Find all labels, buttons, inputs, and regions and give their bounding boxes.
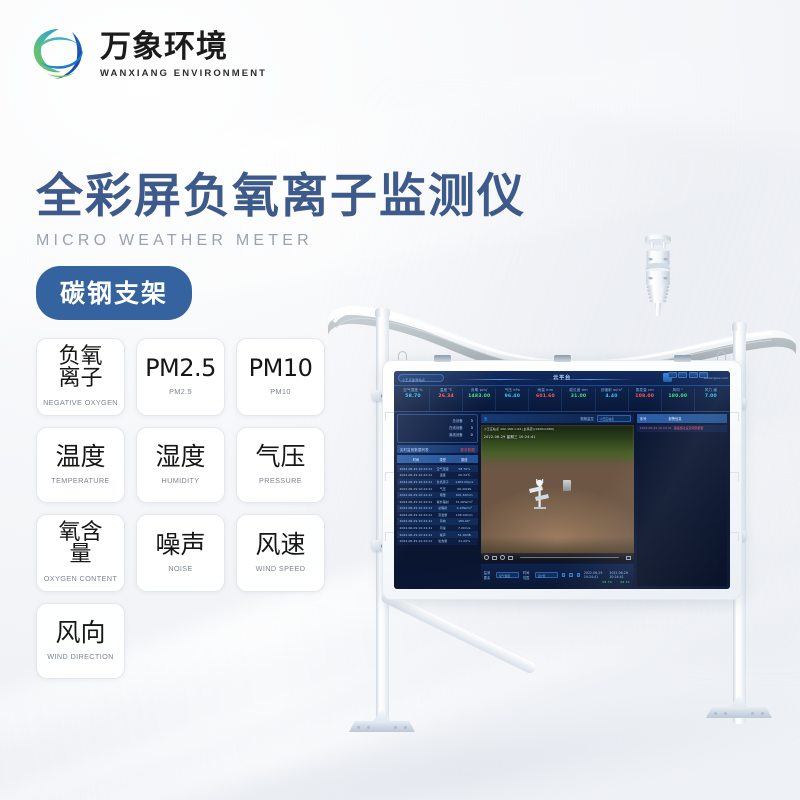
record-icon[interactable]	[500, 555, 505, 560]
chart-legend-swatch[interactable]	[569, 573, 572, 577]
base-bolt-icon	[367, 726, 370, 729]
cell-value: 96.40kPa	[453, 487, 476, 491]
feature-card: 负氧离子NEGATIVE OXYGEN	[36, 338, 125, 416]
table-row[interactable]: 2022-06-29 10:24:41温度26.34℃	[397, 472, 478, 479]
toolbar-button[interactable]	[668, 372, 677, 378]
cell-value: 180.00°	[453, 519, 476, 523]
data-table-title: 实时监测数据列表	[400, 447, 429, 452]
cell-time: 2022-06-29 10:24:41	[399, 467, 433, 471]
screen-toolbar[interactable]	[668, 372, 709, 378]
data-table-more-link[interactable]: 更多数据	[460, 447, 474, 452]
chart-legend-swatch[interactable]	[577, 573, 580, 577]
metric-cell: 气压 kPa96.40	[496, 388, 529, 411]
metric-value: 7.00	[695, 393, 727, 402]
table-row[interactable]: 2022-06-29 10:24:41气压96.40kPa	[397, 485, 478, 492]
cell-type: 风向	[433, 519, 453, 523]
bezel-corner-mark	[385, 472, 394, 481]
screen-header: 云平台 小王庄监测站点 admin@wx.com	[394, 371, 730, 386]
base-bolt-icon	[357, 726, 360, 729]
cell-time: 2022-06-29 10:24:41	[399, 526, 433, 530]
cell-value: 51.00dB	[453, 533, 476, 537]
post-cap-right	[732, 322, 747, 331]
summary-label: 总设备	[452, 418, 462, 425]
bezel-hook-icon	[717, 351, 726, 360]
summary-value: 3	[471, 425, 473, 432]
alarm-column-header: 序号	[640, 416, 669, 421]
chart-legend-swatch[interactable]	[562, 573, 565, 577]
feature-card: 温度TEMPERATURE	[36, 427, 125, 503]
metric-value: 4.40	[596, 393, 628, 402]
cell-type: 雨量	[433, 493, 453, 497]
table-row[interactable]: 2022-06-29 10:24:41雨量601.60mm	[397, 492, 478, 499]
metric-value: 58.70	[397, 393, 429, 402]
metric-value: 96.40	[496, 393, 528, 402]
base-bolt-icon	[761, 712, 764, 715]
cell-type: 紫外辐射	[433, 500, 453, 504]
cell-type: 蒸发量	[433, 513, 453, 517]
cell-time: 2022-06-29 10:24:41	[399, 519, 433, 523]
base-bolt-icon	[751, 712, 754, 715]
led-display-screen[interactable]: 云平台 小王庄监测站点 admin@wx.com 空气湿度 %58.70温度 ℃…	[394, 371, 730, 589]
base-bolt-icon	[714, 712, 717, 715]
cell-value: 58.70%	[453, 467, 476, 471]
column-header: 类型	[433, 457, 453, 462]
feature-card: 风速WIND SPEED	[236, 514, 325, 592]
metric-cell: 蒸发量 cm108.00	[629, 388, 662, 411]
table-row[interactable]: 2022-06-29 10:24:41风向180.00°	[397, 518, 478, 525]
table-row[interactable]: 2022-06-29 10:24:41空气湿度58.70%	[397, 465, 478, 472]
feature-card: 风向WIND DIRECTION	[36, 603, 125, 679]
table-row[interactable]: 2022-06-29 10:24:41负氧离子1483.00pcs	[397, 479, 478, 486]
dashboard-body: 总设备3在线设备3离线设备0 实时监测数据列表 更多数据 时间 类型 数值 20…	[394, 412, 730, 589]
cell-type: 噪声	[433, 533, 453, 537]
metric-cell: 温度 ℃26.34	[430, 388, 463, 411]
cell-time: 2022-06-29 10:24:41	[399, 539, 433, 543]
cell-time: 2022-06-29 10:24:41	[399, 506, 433, 510]
device-summary-box: 总设备3在线设备3离线设备0	[397, 414, 478, 443]
camera-station-select[interactable]: 小王庄站点	[597, 415, 631, 422]
table-row[interactable]: 2022-06-29 10:24:41总辐射4.40W/m²	[397, 505, 478, 512]
camera-user-icon: 👤	[484, 417, 488, 421]
feature-card: 氧含量OXYGEN CONTENT	[36, 514, 125, 592]
metric-value: 180.00	[662, 393, 694, 402]
feature-card-subtitle: PM10	[270, 387, 290, 396]
feature-card-subtitle: WIND SPEED	[256, 564, 306, 573]
feature-card-title: PM10	[249, 356, 313, 380]
cell-type: 负氧离子	[433, 480, 453, 484]
feature-card: PM10PM10	[236, 338, 325, 416]
cell-time: 2022-06-29 10:24:41	[399, 513, 433, 517]
alarm-cell-time: 2022-06-29 10:24:41	[640, 426, 674, 430]
metric-cell: 总辐射 w/m²4.40	[596, 388, 629, 411]
filter-label-2: 时间范围	[523, 570, 531, 580]
feature-card-title: 负氧离子	[58, 346, 102, 391]
feature-card-subtitle: NEGATIVE OXYGEN	[43, 398, 118, 407]
metric-cell: 雨量 mm601.60	[529, 388, 562, 411]
fullscreen-icon[interactable]	[626, 556, 631, 560]
cell-time: 2022-06-29 10:24:41	[399, 533, 433, 537]
column-header: 时间	[399, 457, 433, 462]
feature-card: 气压PRESSURE	[236, 427, 325, 503]
bezel-corner-mark	[730, 532, 739, 541]
feature-card: 湿度HUMIDITY	[136, 427, 225, 503]
alarm-table-body: 2022-06-29 10:24:41温度超过设定阈值报警	[637, 425, 727, 433]
station-select-label: 小王庄监测站点	[399, 375, 443, 382]
product-illustration: 云平台 小王庄监测站点 admin@wx.com 空气湿度 %58.70温度 ℃…	[320, 230, 800, 770]
metric-cell: 空气湿度 %58.70	[397, 388, 430, 411]
alarm-column-header: 报警信息	[668, 416, 724, 421]
summary-value: 0	[471, 432, 473, 439]
header-deco-line	[456, 379, 544, 380]
cell-time: 2022-06-29 10:24:41	[399, 473, 433, 477]
metric-value: 1483.00	[463, 393, 495, 402]
bezel-corner-mark	[730, 412, 739, 421]
cell-time: 2022-06-29 10:24:41	[399, 487, 433, 491]
bezel-corner-mark	[730, 472, 739, 481]
summary-label: 在线设备	[449, 425, 463, 432]
feature-card-title: 氧含量	[58, 522, 102, 567]
cell-value: 601.60mm	[453, 493, 476, 497]
camera-overlay-info: 小王庄站点 192.168.1.64 (主码流)(1920x1080)	[484, 427, 554, 431]
cell-value: 4.40W/m²	[453, 506, 476, 510]
camera-toolbar: 👤 视频监控 小王庄站点	[481, 414, 634, 423]
brand-name-cn: 万象环境	[100, 32, 267, 63]
metric-cell: 负氧 pcs/1483.00	[463, 388, 496, 411]
support-brace	[380, 591, 538, 675]
cell-time: 2022-06-29 10:24:41	[399, 500, 433, 504]
feature-card-subtitle: OXYGEN CONTENT	[44, 574, 117, 583]
table-row[interactable]: 2022-06-29 10:24:41风速7.00m/s	[397, 525, 478, 532]
metric-value: 108.00	[629, 393, 661, 402]
toolbar-button[interactable]	[689, 372, 698, 378]
metric-value: 601.60	[529, 393, 561, 402]
summary-value: 3	[471, 418, 473, 425]
base-bolt-icon	[404, 726, 407, 729]
cell-type: 总辐射	[433, 506, 453, 510]
camera-overlay-time: 2022-06-29 星期三 10:24:41	[484, 434, 536, 439]
cell-type: 氧含量	[433, 539, 453, 543]
footer-value-1: 58.70	[602, 580, 612, 584]
chart-filter-bar: 监测要素 空气湿度 时间范围 近7天 2022-06-29 10:24:41 2…	[481, 564, 634, 586]
bezel-mount-tab	[554, 355, 571, 362]
base-flange-plate-right	[706, 696, 772, 718]
cell-value: 21.00%	[453, 539, 476, 543]
summary-row: 在线设备3	[402, 425, 473, 432]
cell-type: 空气湿度	[433, 467, 453, 471]
feature-card-title: 风向	[55, 620, 105, 645]
camera-feed[interactable]: 小王庄站点 192.168.1.64 (主码流)(1920x1080) 2022…	[481, 425, 634, 562]
data-table-columns: 时间 类型 数值	[397, 455, 478, 463]
feature-card-title: 温度	[55, 444, 105, 469]
filter-select-1[interactable]: 空气湿度	[496, 572, 519, 579]
cell-type: 气压	[433, 487, 453, 491]
status-badge: 碳钢支架	[36, 266, 192, 320]
cell-type: 风速	[433, 526, 453, 530]
table-row[interactable]: 2022-06-29 10:24:41蒸发量108.00mm	[397, 512, 478, 519]
alarm-row[interactable]: 2022-06-29 10:24:41温度超过设定阈值报警	[637, 425, 727, 433]
bezel-mount-tab	[674, 355, 691, 362]
metrics-strip: 空气湿度 %58.70温度 ℃26.34负氧 pcs/1483.00气压 kPa…	[394, 386, 730, 412]
center-panel: 👤 视频监控 小王庄站点	[481, 414, 634, 586]
brand-name-en: WANXIANG ENVIRONMENT	[100, 68, 267, 79]
alarm-table-header: 序号 报警信息	[637, 414, 727, 423]
camera-weather-station	[527, 477, 553, 511]
screen-title: 云平台	[553, 373, 571, 381]
left-panel: 总设备3在线设备3离线设备0 实时监测数据列表 更多数据 时间 类型 数值 20…	[397, 414, 478, 586]
feature-card-title: 噪声	[155, 532, 205, 557]
cell-value: 108.00mm	[453, 513, 476, 517]
base-bolt-icon	[724, 712, 727, 715]
feature-card-subtitle: WIND DIRECTION	[47, 652, 114, 661]
summary-row: 总设备3	[402, 418, 473, 425]
data-table-body: 2022-06-29 10:24:41空气湿度58.70%2022-06-29 …	[397, 465, 478, 586]
feature-card: 噪声NOISE	[136, 514, 225, 592]
feature-card-title: 风速	[255, 532, 305, 557]
metric-cell: 能见度 dm31.00	[562, 388, 595, 411]
summary-label: 离线设备	[449, 432, 463, 439]
display-bezel: 云平台 小王庄监测站点 admin@wx.com 空气湿度 %58.70温度 ℃…	[382, 360, 742, 600]
feature-card-subtitle: PM2.5	[169, 387, 192, 396]
feature-card-list: 负氧离子NEGATIVE OXYGENPM2.5PM2.5PM10PM10温度T…	[36, 338, 326, 679]
metric-value: 31.00	[562, 393, 594, 402]
feature-card-subtitle: HUMIDITY	[161, 476, 199, 485]
feature-card-title: 气压	[255, 444, 305, 469]
audio-icon[interactable]	[508, 556, 513, 560]
camera-progress-bar[interactable]	[520, 557, 619, 558]
bezel-corner-mark	[385, 532, 394, 541]
alarm-empty-area	[637, 434, 727, 586]
metric-cell: 风力 级7.00	[695, 388, 727, 411]
alarm-cell-message: 温度超过设定阈值报警	[673, 426, 724, 430]
feature-card-subtitle: PRESSURE	[259, 476, 302, 485]
page-title: 全彩屏负氧离子监测仪	[36, 172, 526, 221]
metric-cell: 风向 °180.00	[662, 388, 695, 411]
feature-card-title: 湿度	[155, 444, 205, 469]
snapshot-icon[interactable]	[492, 556, 497, 560]
right-panel: 序号 报警信息 2022-06-29 10:24:41温度超过设定阈值报警	[637, 414, 727, 586]
station-select[interactable]: 小王庄监测站点	[398, 374, 444, 382]
toolbar-button[interactable]	[678, 372, 687, 378]
cell-value: 31.00W/m²	[453, 500, 476, 504]
bezel-hook-icon	[398, 351, 407, 360]
filter-label-1: 监测要素	[484, 570, 492, 580]
camera-bar-label: 视频监控	[580, 416, 594, 421]
cell-value: 1483.00pcs	[453, 480, 476, 484]
user-account-label[interactable]: admin@wx.com	[704, 376, 728, 380]
table-row[interactable]: 2022-06-29 10:24:41氧含量21.00%	[397, 538, 478, 545]
bezel-corner-mark	[385, 412, 394, 421]
cell-value: 26.34℃	[453, 473, 476, 477]
cell-type: 温度	[433, 473, 453, 477]
feature-card: PM2.5PM2.5	[136, 338, 225, 416]
data-table-header: 实时监测数据列表 更多数据	[397, 445, 478, 453]
base-bolt-icon	[394, 726, 397, 729]
filter-select-2[interactable]: 近7天	[535, 572, 558, 579]
cell-value: 7.00m/s	[453, 526, 476, 530]
summary-row: 离线设备0	[402, 432, 473, 439]
camera-controls[interactable]	[481, 553, 634, 562]
column-header: 数值	[453, 457, 476, 462]
cell-time: 2022-06-29 10:24:41	[399, 480, 433, 484]
brand-logo: 万象环境 WANXIANG ENVIRONMENT	[28, 24, 267, 86]
feature-card-title: PM2.5	[145, 356, 216, 380]
post-cap-left	[375, 308, 390, 317]
metric-value: 26.34	[430, 393, 462, 402]
base-flange-plate-left	[349, 710, 415, 732]
footer-value-2: 26.34	[620, 580, 630, 584]
play-icon[interactable]	[484, 555, 489, 560]
footer-stat-2: 2022-06-29 10:24:41	[609, 571, 630, 579]
table-row[interactable]: 2022-06-29 10:24:41噪声51.00dB	[397, 531, 478, 538]
bezel-mount-tab	[434, 355, 451, 362]
footer-stat-1: 2022-06-29 10:24:41	[584, 571, 605, 579]
feature-card-subtitle: TEMPERATURE	[51, 476, 109, 485]
feature-card-subtitle: NOISE	[168, 564, 192, 573]
table-row[interactable]: 2022-06-29 10:24:41紫外辐射31.00W/m²	[397, 498, 478, 505]
globe-swirl-icon	[28, 24, 90, 86]
cell-time: 2022-06-29 10:24:41	[399, 493, 433, 497]
camera-field-equipment	[563, 480, 571, 491]
